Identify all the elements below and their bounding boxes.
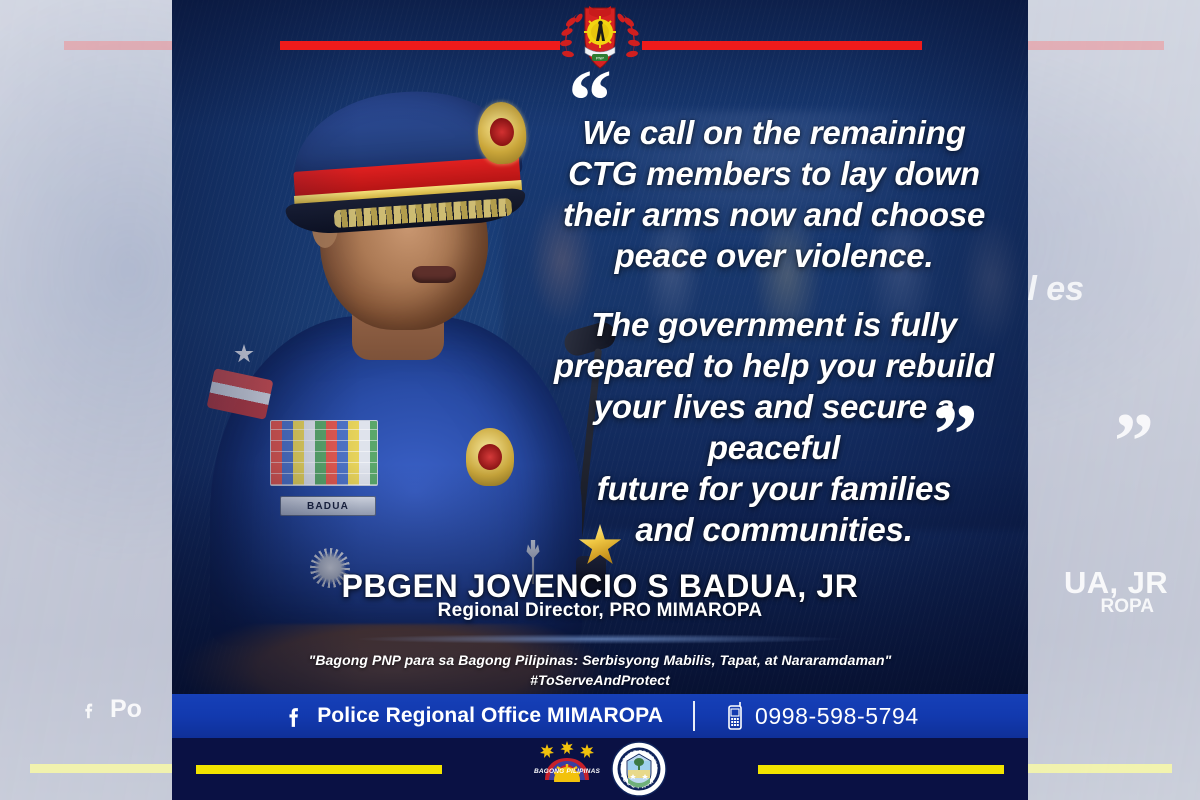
red-accent-line-right	[642, 41, 922, 50]
background-echo-line: es	[1046, 270, 1084, 308]
quote-line: peace over violence.	[528, 235, 1020, 276]
contact-bar: Police Regional Office MIMAROPA 0998-598…	[172, 694, 1028, 738]
background-echo-role: ROPA	[1101, 596, 1154, 618]
bagong-pilipinas-caption: BAGONG PILIPINAS	[533, 768, 601, 775]
tagline-line-1: "Bagong PNP para sa Bagong Pilipinas: Se…	[172, 650, 1028, 670]
quote-line: The government is fully	[528, 304, 1020, 345]
background-echo-close-quote-icon: ”	[1114, 412, 1154, 472]
quote-text-block: We call on the remaining CTG members to …	[528, 112, 1020, 550]
red-accent-line-left	[280, 41, 560, 50]
yellow-accent-left	[196, 765, 442, 774]
bagong-pilipinas-sun-icon	[533, 740, 601, 782]
officer-role: Regional Director, PRO MIMAROPA	[172, 600, 1028, 622]
background-echo-facebook: Po	[78, 695, 142, 724]
facebook-icon	[281, 703, 307, 729]
phone-number-label: 0998-598-5794	[755, 703, 919, 730]
contact-divider	[693, 701, 695, 731]
phone-contact[interactable]: 0998-598-5794	[725, 701, 919, 731]
facebook-page-label: Police Regional Office MIMAROPA	[317, 704, 663, 728]
bagong-pilipinas-logo: BAGONG PILIPINAS	[533, 740, 601, 798]
light-streak	[252, 632, 948, 646]
quote-line: We call on the remaining	[528, 112, 1020, 153]
pro-mimaropa-seal: POLICE REGIONAL OFFICE MIMAROPA	[611, 741, 667, 797]
quote-line: prepared to help you rebuild	[528, 345, 1020, 386]
facebook-contact[interactable]: Police Regional Office MIMAROPA	[281, 703, 663, 729]
background-echo-facebook-label: Po	[110, 695, 142, 724]
close-quote-icon: ”	[934, 408, 980, 464]
poster-card: BADUA	[172, 0, 1028, 800]
quote-paragraph-gap	[528, 276, 1020, 304]
footer-logo-group: BAGONG PILIPINAS POLICE REGIONAL OFFICE …	[533, 738, 667, 800]
yellow-accent-right	[758, 765, 1004, 774]
quote-line: their arms now and choose	[528, 194, 1020, 235]
quote-line: CTG members to lay down	[528, 153, 1020, 194]
tagline-block: "Bagong PNP para sa Bagong Pilipinas: Se…	[172, 650, 1028, 690]
mobile-phone-icon	[725, 701, 745, 731]
tagline-hashtag: #ToServeAndProtect	[172, 670, 1028, 690]
footer-band: BAGONG PILIPINAS POLICE REGIONAL OFFICE …	[172, 738, 1028, 800]
facebook-icon	[78, 699, 100, 721]
